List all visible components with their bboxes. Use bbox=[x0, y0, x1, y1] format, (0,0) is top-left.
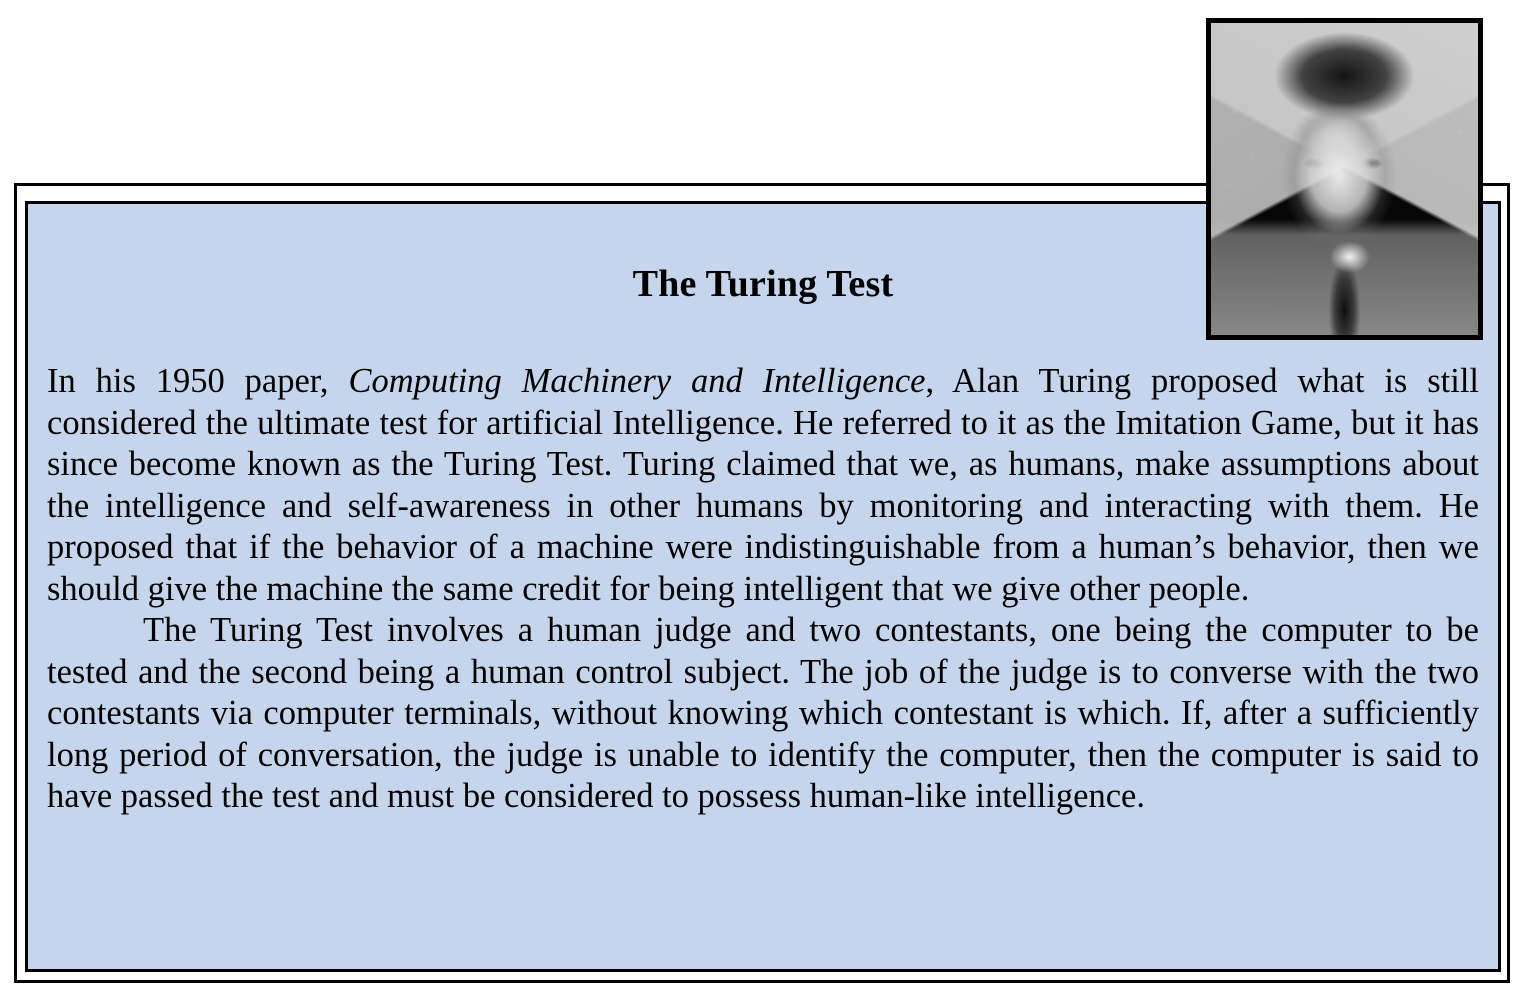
text-run: The Turing Test involves a human judge a… bbox=[47, 611, 1479, 815]
alan-turing-photo bbox=[1206, 18, 1483, 340]
paragraph: The Turing Test involves a human judge a… bbox=[47, 610, 1479, 818]
text-run: In his 1950 paper, bbox=[47, 362, 348, 400]
paragraph: In his 1950 paper, Computing Machinery a… bbox=[47, 361, 1479, 610]
paper-title-italic: Computing Machinery and Intelligence bbox=[348, 362, 925, 400]
body-text: In his 1950 paper, Computing Machinery a… bbox=[47, 361, 1479, 818]
portrait-image bbox=[1211, 23, 1478, 335]
